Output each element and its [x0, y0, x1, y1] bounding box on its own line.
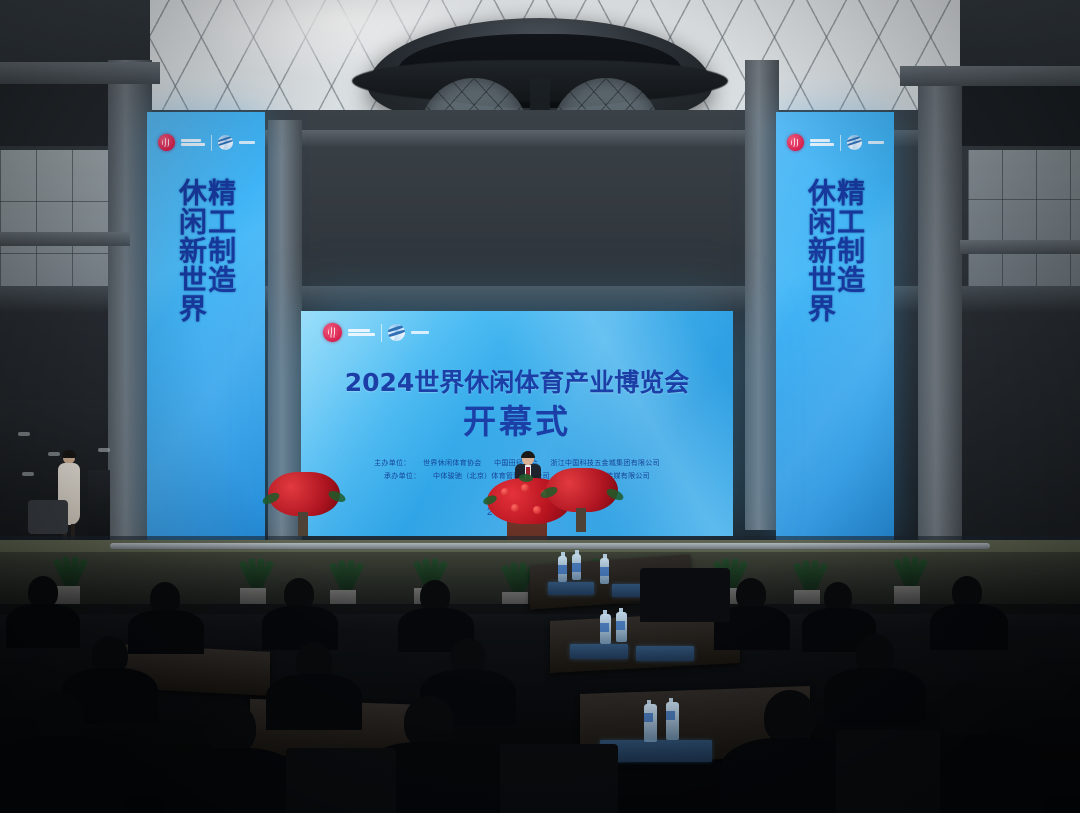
- flower-bloom: [511, 504, 519, 512]
- flower-bloom: [521, 484, 529, 492]
- audience-head: [206, 702, 256, 754]
- beam-3: [0, 232, 130, 246]
- banner-logo-lockup-left: [147, 134, 265, 151]
- logo-divider: [840, 135, 841, 151]
- beam-2: [900, 66, 1080, 86]
- water-bottle: [600, 558, 609, 584]
- banner-sheen-left: [147, 112, 265, 542]
- basket-stand: [298, 512, 308, 536]
- wall-block-upper-left: [0, 84, 110, 146]
- organizer-entry: 世界休闲体育协会: [423, 459, 481, 467]
- flower-bloom: [501, 488, 509, 496]
- chair-back: [640, 568, 730, 622]
- pillar-3: [745, 60, 779, 530]
- banner-logo-lockup-right: [776, 134, 894, 151]
- audience-head: [404, 696, 454, 748]
- partner-wordmark: [411, 331, 429, 334]
- name-plate: [636, 646, 694, 661]
- flower-bloom: [533, 506, 541, 514]
- led-banner-left: 精工制造 休闲新世界: [147, 112, 265, 542]
- beam-1: [0, 62, 160, 84]
- logo-divider: [211, 135, 212, 151]
- screen-title: 2024世界休闲体育产业博览会: [301, 363, 733, 399]
- organizer-label: 承办单位：: [384, 472, 421, 480]
- banner-slogan-line-1: 精工制造: [204, 178, 237, 294]
- audience-shoulders: [266, 674, 362, 730]
- screen-subtitle: 开幕式: [301, 395, 733, 443]
- stage-equipment-case: [28, 500, 68, 534]
- expo-wordmark: [181, 139, 205, 146]
- organizer-label: 主办单位：: [374, 459, 411, 467]
- partner-wordmark: [868, 141, 884, 144]
- chair-back: [500, 744, 618, 813]
- banner-slogan-right: 精工制造 休闲新世界: [776, 178, 894, 323]
- expo-emblem-logo: [158, 134, 175, 151]
- logo-divider: [381, 324, 382, 342]
- banner-slogan-line-2: 休闲新世界: [175, 178, 208, 323]
- banner-slogan-line-2: 休闲新世界: [804, 178, 837, 323]
- name-plate: [548, 582, 594, 595]
- name-plate: [570, 644, 628, 659]
- chair-back: [286, 748, 396, 813]
- audience-head: [764, 690, 816, 744]
- basket-stand: [576, 508, 586, 532]
- ceiling-downlight: [22, 472, 34, 476]
- water-bottle: [644, 704, 657, 742]
- organizer-entry: 浙江中国科技五金城集团有限公司: [550, 459, 660, 467]
- audience-head: [940, 684, 994, 740]
- ceiling-downlight: [98, 448, 110, 452]
- audience-shoulders: [824, 668, 926, 726]
- chair-back: [836, 730, 940, 813]
- beam-4: [960, 240, 1080, 254]
- banner-slogan-left: 精工制造 休闲新世界: [147, 178, 265, 323]
- partner-wordmark: [239, 141, 255, 144]
- pillar-1: [108, 60, 152, 560]
- audience-shoulders: [6, 604, 80, 648]
- event-photo-scene: 精工制造 休闲新世界 精工制造: [0, 0, 1080, 813]
- water-bottle: [616, 612, 627, 642]
- water-bottle: [666, 702, 679, 740]
- audience-shoulders: [0, 736, 126, 813]
- audience-shoulders: [164, 748, 300, 813]
- ceiling-downlight: [18, 432, 30, 436]
- partner-swoosh-logo: [847, 135, 862, 150]
- audience-shoulders: [128, 610, 204, 654]
- pillar-4: [918, 70, 962, 540]
- host-hair: [62, 450, 76, 458]
- audience-shoulders: [262, 606, 338, 650]
- flower-basket-left: [268, 472, 340, 536]
- water-bottle: [600, 614, 611, 644]
- screen-logo-lockup: [323, 323, 429, 342]
- expo-emblem-logo: [787, 134, 804, 151]
- banner-slogan-line-1: 精工制造: [833, 178, 866, 294]
- audience-area: [0, 552, 1080, 813]
- partner-swoosh-logo: [218, 135, 233, 150]
- audience-shoulders: [930, 604, 1008, 650]
- flower-basket-right: [546, 468, 618, 532]
- water-bottle: [572, 554, 581, 580]
- audience-head: [36, 692, 84, 742]
- expo-emblem-logo: [323, 323, 342, 342]
- expo-wordmark: [810, 139, 834, 146]
- speaker-hair: [521, 451, 535, 458]
- expo-wordmark: [348, 329, 375, 336]
- led-banner-right: 精工制造 休闲新世界: [776, 112, 894, 548]
- partner-swoosh-logo: [388, 324, 405, 341]
- water-bottle: [558, 556, 567, 582]
- wall-block-upper-right: [962, 86, 1080, 146]
- stage-speaker-cabinet: [88, 470, 110, 544]
